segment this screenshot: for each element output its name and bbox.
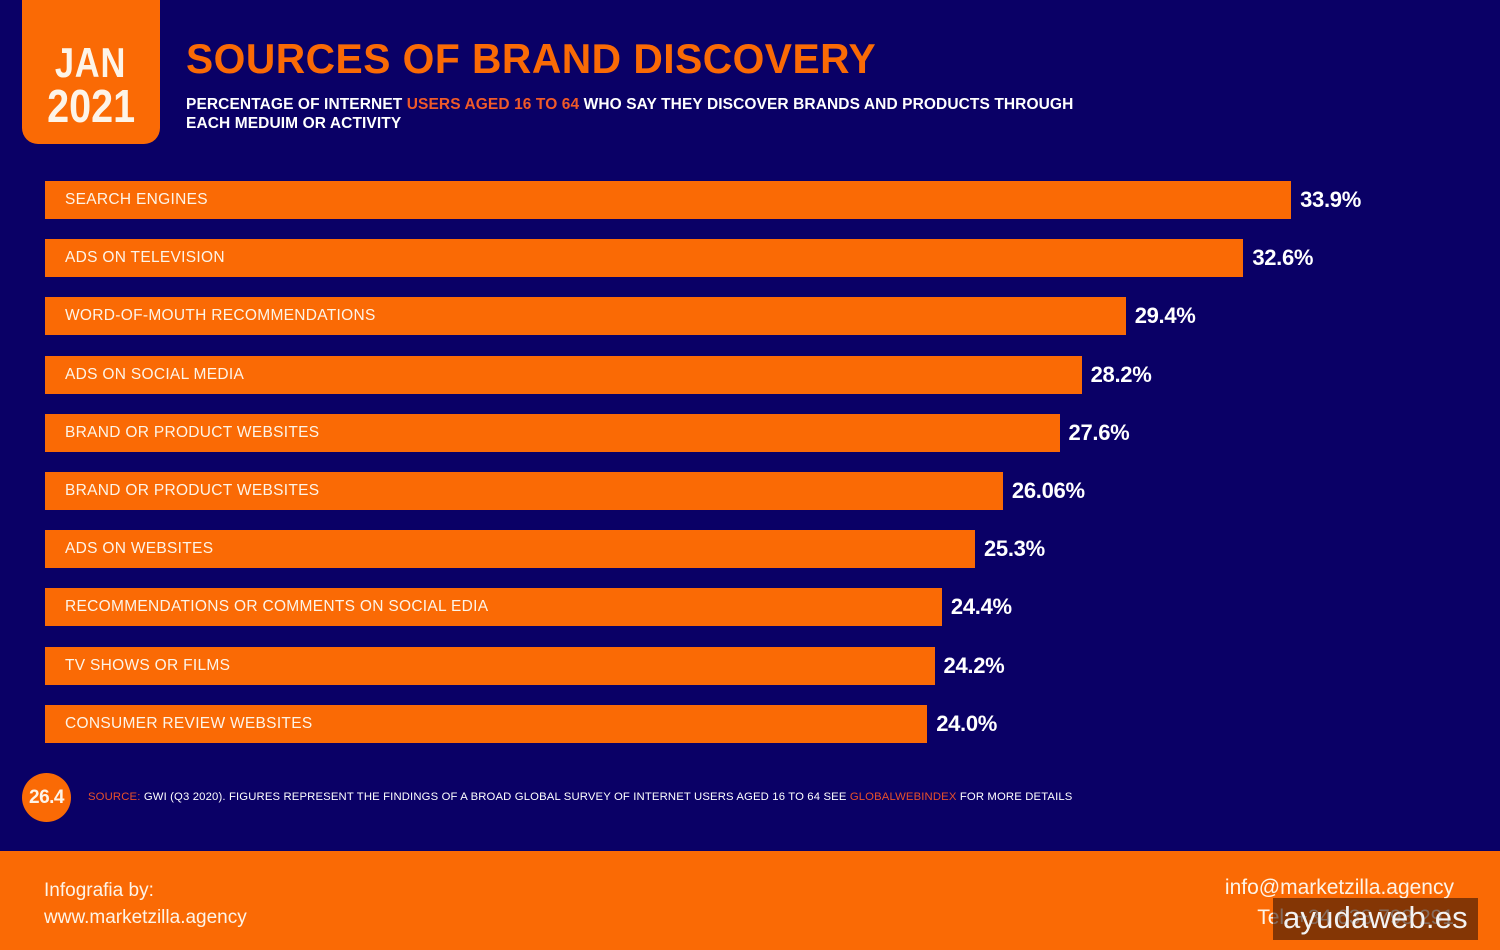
source-badge: 26.4 (22, 773, 71, 822)
bar-category-label: BRAND OR PRODUCT WEBSITES (45, 482, 319, 500)
bar-row: TV SHOWS OR FILMS24.2% (45, 647, 1004, 685)
bar-segment: BRAND OR PRODUCT WEBSITES (45, 414, 1060, 452)
bar-value-label: 25.3% (984, 536, 1045, 562)
bar-row: SEARCH ENGINES33.9% (45, 181, 1361, 219)
bar-chart: SEARCH ENGINES33.9%ADS ON TELEVISION32.6… (0, 0, 1500, 950)
watermark: ayudaweb.es (1273, 898, 1478, 940)
bar-value-label: 24.4% (951, 594, 1012, 620)
bar-row: ADS ON TELEVISION32.6% (45, 239, 1313, 277)
bar-category-label: SEARCH ENGINES (45, 191, 208, 209)
source-text-1: GWI (Q3 2020). FIGURES REPRESENT THE FIN… (141, 791, 850, 803)
bar-segment: ADS ON SOCIAL MEDIA (45, 356, 1082, 394)
bar-row: ADS ON SOCIAL MEDIA28.2% (45, 356, 1151, 394)
bar-row: ADS ON WEBSITES25.3% (45, 530, 1045, 568)
infographic-page: JAN 2021 SOURCES OF BRAND DISCOVERY PERC… (0, 0, 1500, 950)
bar-value-label: 32.6% (1252, 245, 1313, 271)
footer-credit: Infografia by: www.marketzilla.agency (44, 878, 247, 932)
bar-segment: ADS ON TELEVISION (45, 239, 1243, 277)
source-note: SOURCE: GWI (Q3 2020). FIGURES REPRESENT… (88, 791, 1073, 803)
bar-category-label: TV SHOWS OR FILMS (45, 657, 230, 675)
bar-category-label: CONSUMER REVIEW WEBSITES (45, 715, 312, 733)
bar-value-label: 33.9% (1300, 187, 1361, 213)
bar-category-label: WORD-OF-MOUTH RECOMMENDATIONS (45, 307, 376, 325)
footer-credit-line1: Infografia by: (44, 878, 247, 905)
bar-segment: SEARCH ENGINES (45, 181, 1291, 219)
bar-category-label: ADS ON WEBSITES (45, 540, 213, 558)
bar-segment: ADS ON WEBSITES (45, 530, 975, 568)
bar-row: BRAND OR PRODUCT WEBSITES27.6% (45, 414, 1129, 452)
bar-segment: TV SHOWS OR FILMS (45, 647, 935, 685)
globalwebindex-link[interactable]: GLOBALWEBINDEX (850, 791, 957, 803)
bar-segment: CONSUMER REVIEW WEBSITES (45, 705, 927, 743)
bar-value-label: 27.6% (1069, 420, 1130, 446)
bar-value-label: 28.2% (1091, 362, 1152, 388)
bar-segment: BRAND OR PRODUCT WEBSITES (45, 472, 1003, 510)
source-text-2: FOR MORE DETAILS (957, 791, 1073, 803)
bar-value-label: 24.2% (944, 653, 1005, 679)
bar-category-label: BRAND OR PRODUCT WEBSITES (45, 424, 319, 442)
bar-value-label: 26.06% (1012, 478, 1085, 504)
footer-credit-line2[interactable]: www.marketzilla.agency (44, 905, 247, 932)
bar-segment: RECOMMENDATIONS OR COMMENTS ON SOCIAL ED… (45, 588, 942, 626)
source-prefix: SOURCE: (88, 791, 141, 803)
bar-value-label: 24.0% (936, 711, 997, 737)
bar-row: RECOMMENDATIONS OR COMMENTS ON SOCIAL ED… (45, 588, 1012, 626)
bar-row: BRAND OR PRODUCT WEBSITES26.06% (45, 472, 1085, 510)
bar-value-label: 29.4% (1135, 303, 1196, 329)
bar-category-label: ADS ON TELEVISION (45, 249, 225, 267)
bar-row: WORD-OF-MOUTH RECOMMENDATIONS29.4% (45, 297, 1196, 335)
bar-category-label: ADS ON SOCIAL MEDIA (45, 366, 244, 384)
bar-category-label: RECOMMENDATIONS OR COMMENTS ON SOCIAL ED… (45, 598, 488, 616)
bar-segment: WORD-OF-MOUTH RECOMMENDATIONS (45, 297, 1126, 335)
bar-row: CONSUMER REVIEW WEBSITES24.0% (45, 705, 997, 743)
